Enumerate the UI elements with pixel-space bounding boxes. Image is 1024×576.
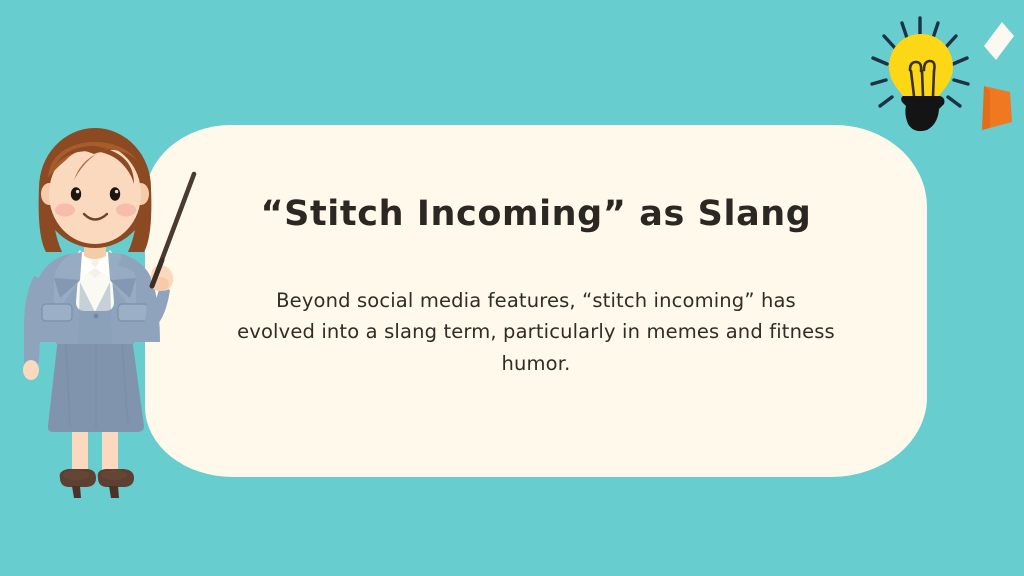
- card-text-block: “Stitch Incoming” as Slang Beyond social…: [145, 125, 927, 477]
- teacher-illustration: [10, 126, 210, 526]
- pointer-stick: [152, 174, 194, 286]
- white-diamond-shape: [976, 18, 1020, 66]
- card-body-text: Beyond social media features, “stitch in…: [236, 285, 836, 380]
- lightbulb-base: [901, 96, 944, 131]
- skirt: [48, 338, 144, 432]
- page-title: “Stitch Incoming” as Slang: [176, 193, 895, 237]
- head: [39, 128, 152, 252]
- orange-diamond-shape: [968, 78, 1020, 136]
- blazer: [30, 250, 160, 344]
- content-card: “Stitch Incoming” as Slang Beyond social…: [145, 125, 927, 477]
- slide-canvas: “Stitch Incoming” as Slang Beyond social…: [0, 0, 1024, 576]
- lightbulb-icon: [862, 14, 980, 138]
- shoes: [60, 469, 134, 498]
